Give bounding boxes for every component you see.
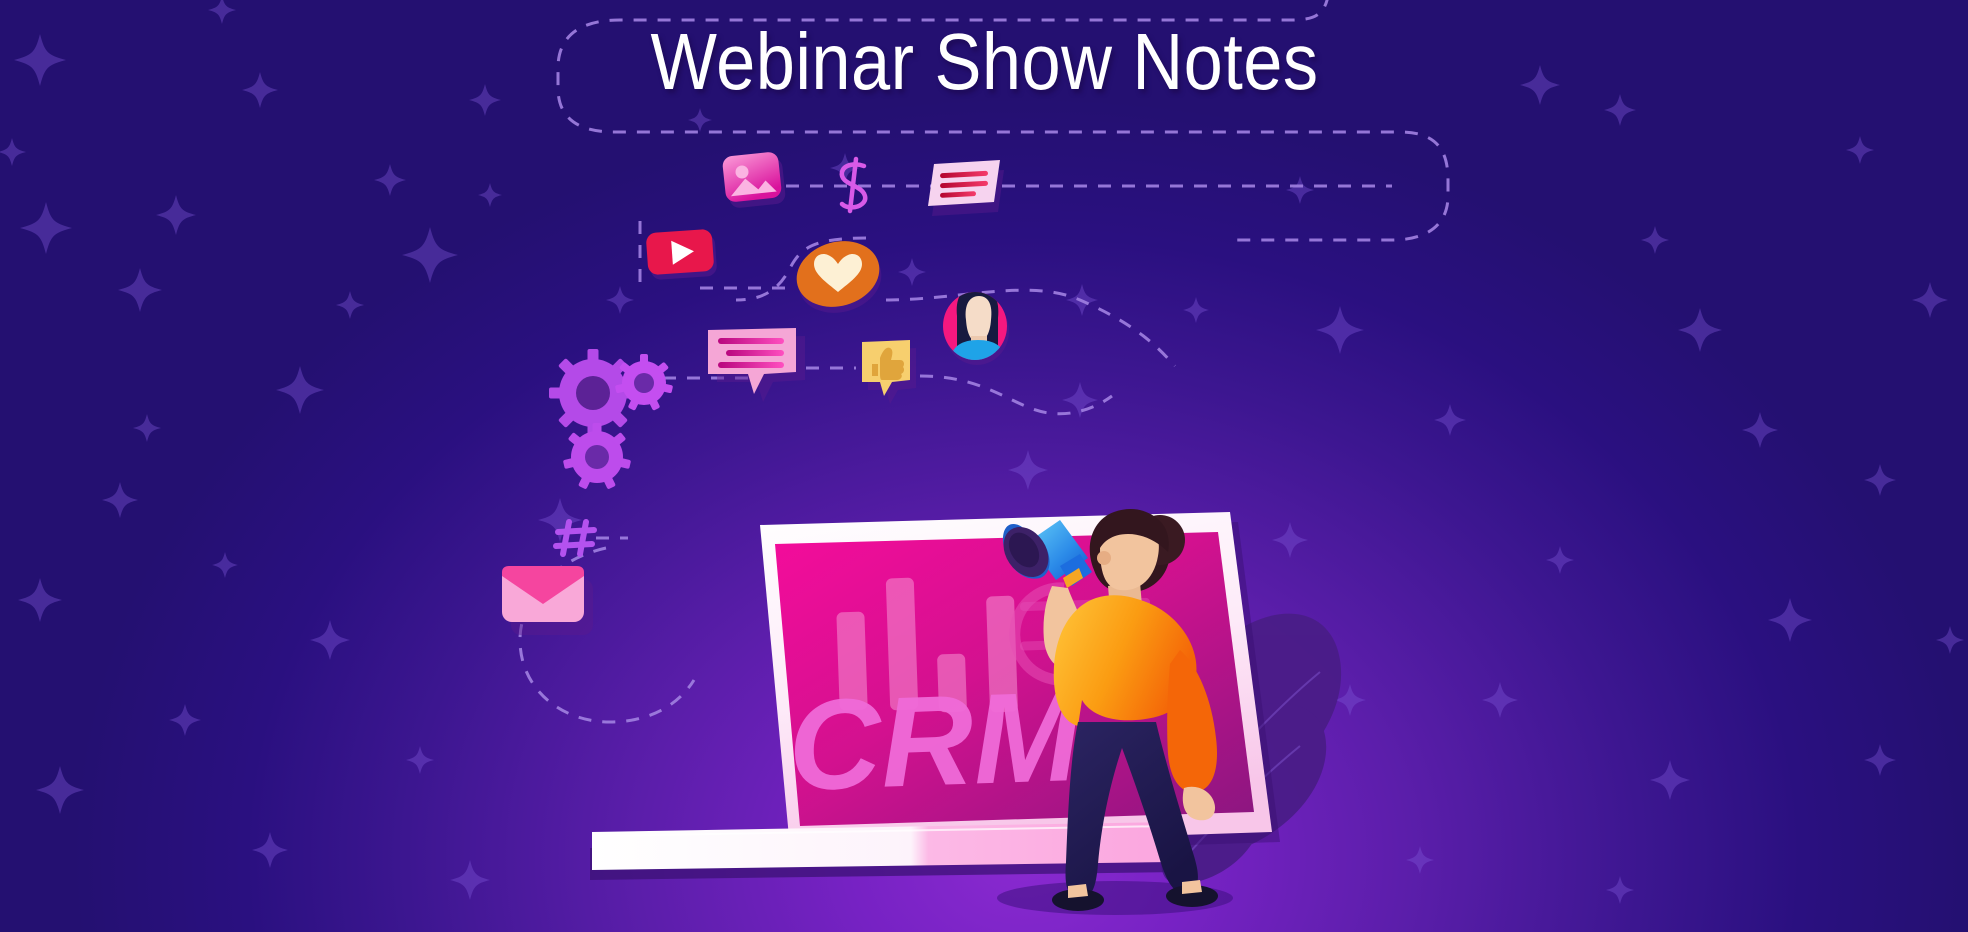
play-video-icon [646,229,718,281]
image-icon [722,151,787,209]
chat-bubble-icon [708,328,805,402]
hashtag-icon [556,522,594,554]
heart-icon [789,232,889,323]
floating-icons-layer [0,0,1968,932]
avatar-icon [943,286,1009,372]
thumbs-up-icon [862,340,916,404]
text-card-icon [928,160,1004,216]
dollar-icon [842,159,865,211]
envelope-icon [502,566,593,635]
gear-lower-icon [563,423,631,490]
illustration-canvas: CRM [0,0,1968,932]
